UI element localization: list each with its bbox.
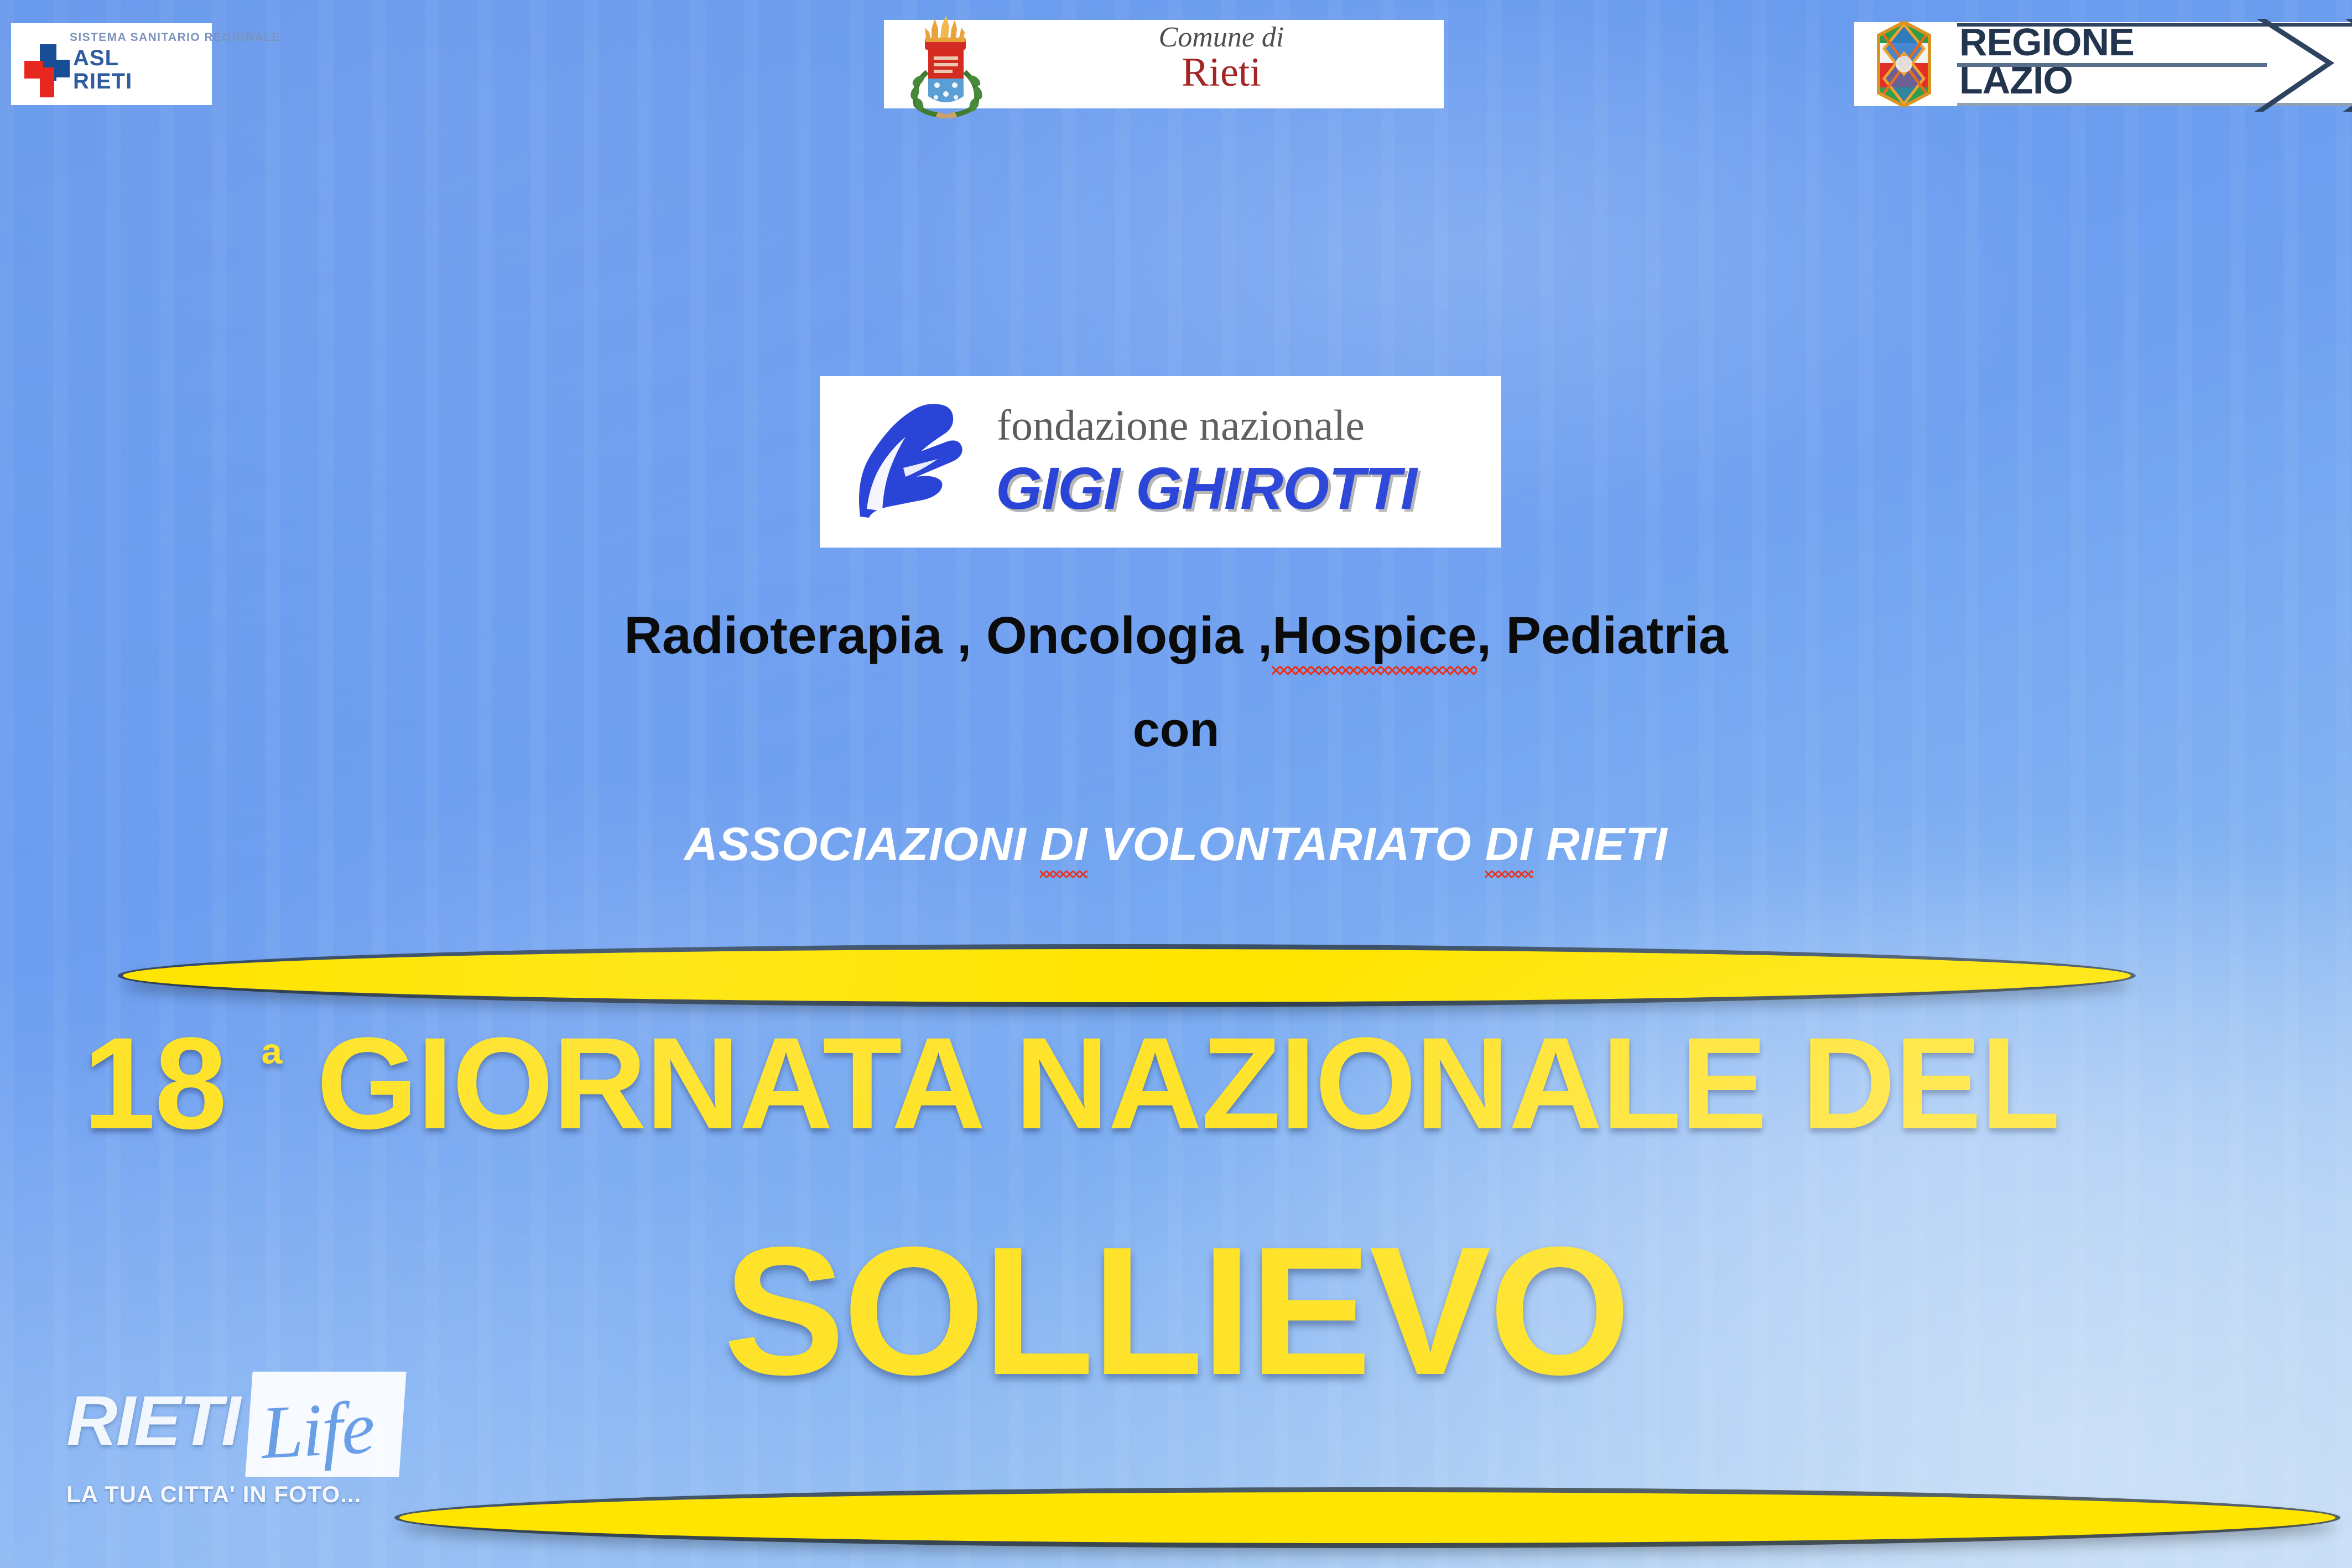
watermark-brand-life: Life [259,1384,376,1476]
comune-di-rieti-logo-card: Comune di Rieti [884,20,1444,108]
departments-misspelled-hospice: Hospice [1272,606,1477,666]
headline-edition-number: 18 [83,1010,226,1157]
comune-crest-icon [897,10,997,118]
ghirotti-hand-dove-icon [850,398,977,525]
associations-line: ASSOCIAZIONI DI VOLONTARIATO DI RIETI [0,817,2352,871]
lazio-text-block: REGIONE LAZIO [1959,23,2134,99]
asl-supertitle: SISTEMA SANITARIO REGIONALE [70,31,280,44]
ghirotti-line2: GIGI GHIROTTI [996,454,1417,523]
regione-lazio-logo-card: REGIONE LAZIO [1854,22,2352,106]
poster-canvas: SISTEMA SANITARIO REGIONALE ASL RIETI [0,0,2352,1568]
yellow-lens-bar-top [123,949,2131,1002]
assoc-part3: RIETI [1533,818,1668,870]
headline-title: 18 ª GIORNATA NAZIONALE DEL [83,1021,2240,1147]
yellow-lens-bar-bottom [399,1492,2335,1543]
comune-text-block: Comune di Rieti [1011,23,1432,93]
watermark-tagline: LA TUA CITTA' IN FOTO... [66,1481,361,1508]
headline-rest: GIORNATA NAZIONALE DEL [316,1010,2059,1157]
con-connector-line: con [0,701,2352,758]
asl-cross-icon [24,44,70,97]
asl-name-block: ASL RIETI [73,46,132,93]
lazio-chevron-icon [2247,19,2352,112]
lazio-mid-rule [1957,63,2267,67]
headline-ordinal-marker: ª [261,1033,282,1097]
lazio-crest-icon [1860,21,1948,107]
asl-rieti-logo-card: SISTEMA SANITARIO REGIONALE ASL RIETI [11,23,212,105]
asl-line2: RIETI [73,70,132,93]
watermark-brand-rieti: RIETI [66,1381,239,1462]
assoc-part2: VOLONTARIATO [1087,818,1485,870]
asl-logo-inner: SISTEMA SANITARIO REGIONALE ASL RIETI [11,23,212,105]
departments-part1: Radioterapia , Oncologia , [624,606,1272,665]
rietilife-watermark: RIETI Life LA TUA CITTA' IN FOTO... [66,1372,498,1510]
comune-line2: Rieti [1011,52,1432,93]
lazio-line1: REGIONE [1959,23,2134,61]
assoc-part1: ASSOCIAZIONI [684,818,1040,870]
fondazione-ghirotti-logo-card: fondazione nazionale GIGI GHIROTTI [820,376,1501,548]
asl-line1: ASL [73,46,132,70]
assoc-misspelled-di-1: DI [1040,817,1087,871]
departments-line: Radioterapia , Oncologia ,Hospice, Pedia… [0,606,2352,666]
ghirotti-line1: fondazione nazionale [997,400,1365,450]
comune-line1: Comune di [1011,23,1432,52]
assoc-misspelled-di-2: DI [1485,817,1533,871]
departments-part2: , Pediatria [1477,606,1728,665]
